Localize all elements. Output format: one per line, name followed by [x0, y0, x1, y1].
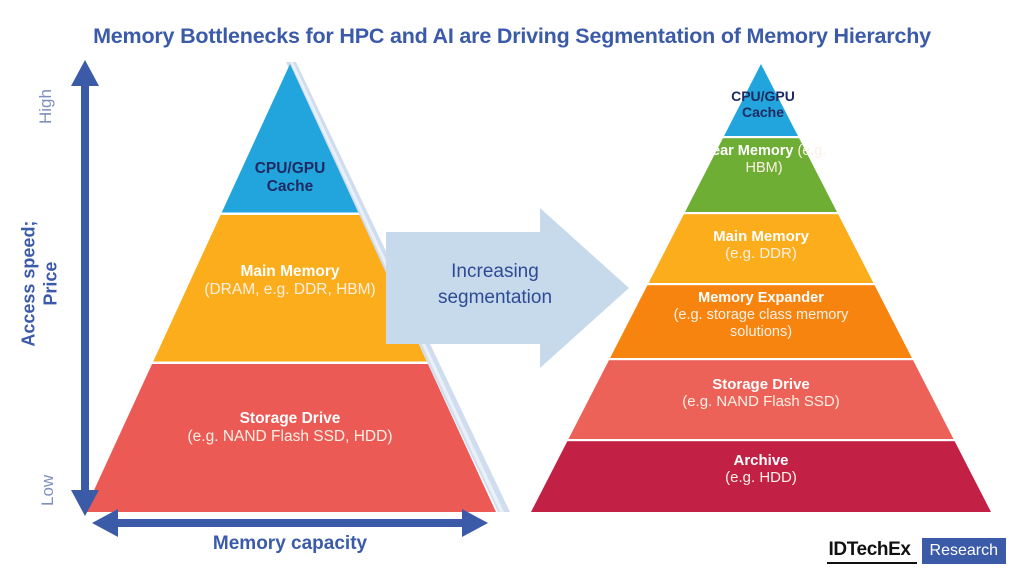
axis-label-memory-capacity: Memory capacity — [130, 533, 450, 556]
arrow-label-line2: segmentation — [405, 285, 585, 311]
layer-cpu-gpu-cache — [60, 56, 520, 214]
layer-near-memory — [510, 138, 1010, 213]
layer-storage-drive — [510, 360, 1010, 440]
logo-wordmark: IDTechEx — [827, 538, 917, 564]
layer-archive — [510, 441, 1010, 514]
logo-research-badge: Research — [922, 538, 1006, 564]
increasing-segmentation-label: Increasing segmentation — [405, 259, 585, 310]
vertical-axis-arrow — [71, 60, 99, 516]
axis-label-access-speed-price: Access speed; Price — [18, 209, 61, 359]
axis-label-line1: Access speed; — [18, 209, 40, 359]
slide-canvas: Memory Bottlenecks for HPC and AI are Dr… — [0, 0, 1024, 576]
layer-storage-drive — [60, 364, 520, 514]
arrow-label-line1: Increasing — [405, 259, 585, 285]
idtechex-logo[interactable]: IDTechEx Research — [827, 538, 1006, 564]
axis-label-low: Low — [38, 446, 58, 506]
axis-label-line2: Price — [40, 209, 62, 359]
axis-label-high: High — [36, 64, 56, 124]
layer-cpu-gpu-cache — [510, 56, 1010, 137]
